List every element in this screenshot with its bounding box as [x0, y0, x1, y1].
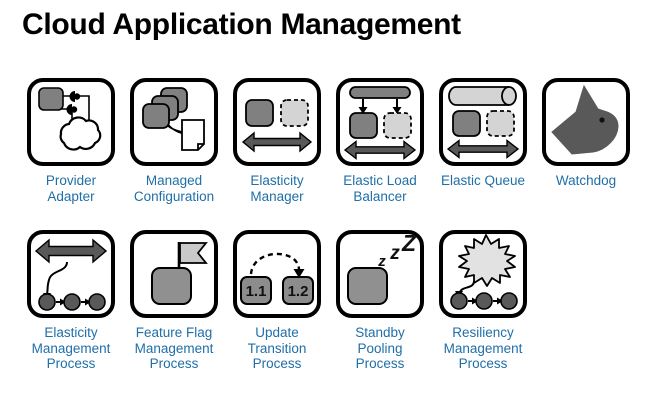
- label-resiliency-management-process: Resiliency Management Process: [444, 325, 523, 372]
- label-elasticity-management-process: Elasticity Management Process: [32, 325, 111, 372]
- update-version-from-text: 1.1: [246, 283, 267, 300]
- cell-elasticity-management-process[interactable]: Elasticity Management Process: [27, 230, 115, 372]
- tile-provider-adapter[interactable]: [27, 78, 115, 166]
- elastic-queue-icon: [443, 82, 523, 162]
- standby-pooling-process-icon: z z Z: [340, 234, 420, 314]
- cell-elastic-load-balancer[interactable]: Elastic Load Balancer: [336, 78, 424, 204]
- feature-flag-management-process-icon: [134, 234, 214, 314]
- cell-resiliency-management-process[interactable]: Resiliency Management Process: [439, 230, 527, 372]
- label-managed-configuration: Managed Configuration: [134, 173, 214, 204]
- cell-elastic-queue[interactable]: Elastic Queue: [439, 78, 527, 204]
- label-standby-pooling-process: Standby Pooling Process: [355, 325, 405, 372]
- label-feature-flag-management-process: Feature Flag Management Process: [135, 325, 214, 372]
- tile-elasticity-management-process[interactable]: [27, 230, 115, 318]
- tile-resiliency-management-process[interactable]: [439, 230, 527, 318]
- cell-watchdog[interactable]: Watchdog: [542, 78, 630, 204]
- cell-feature-flag-management-process[interactable]: Feature Flag Management Process: [130, 230, 218, 372]
- label-watchdog: Watchdog: [556, 173, 616, 189]
- elasticity-manager-icon: [237, 82, 317, 162]
- processes-row: Elasticity Management Process Feature Fl…: [0, 230, 542, 372]
- elasticity-management-process-icon: [31, 234, 111, 314]
- provider-adapter-icon: [31, 82, 111, 162]
- tile-elastic-load-balancer[interactable]: [336, 78, 424, 166]
- cell-provider-adapter[interactable]: Provider Adapter: [27, 78, 115, 204]
- resiliency-management-process-icon: [443, 234, 523, 314]
- managed-configuration-icon: [134, 82, 214, 162]
- patterns-row: Provider Adapter Managed Configuration E…: [0, 78, 645, 204]
- update-transition-process-icon: 1.1 1.2: [237, 234, 317, 314]
- tile-elastic-queue[interactable]: [439, 78, 527, 166]
- tile-managed-configuration[interactable]: [130, 78, 218, 166]
- update-version-to-text: 1.2: [288, 283, 309, 300]
- label-elasticity-manager: Elasticity Manager: [250, 173, 303, 204]
- cell-managed-configuration[interactable]: Managed Configuration: [130, 78, 218, 204]
- elastic-load-balancer-icon: [340, 82, 420, 162]
- label-elastic-load-balancer: Elastic Load Balancer: [343, 173, 417, 204]
- tile-update-transition-process[interactable]: 1.1 1.2: [233, 230, 321, 318]
- label-update-transition-process: Update Transition Process: [248, 325, 307, 372]
- cell-elasticity-manager[interactable]: Elasticity Manager: [233, 78, 321, 204]
- tile-watchdog[interactable]: [542, 78, 630, 166]
- cell-update-transition-process[interactable]: 1.1 1.2 Update Transition Process: [233, 230, 321, 372]
- label-provider-adapter: Provider Adapter: [46, 173, 96, 204]
- page-title: Cloud Application Management: [22, 8, 461, 42]
- tile-elasticity-manager[interactable]: [233, 78, 321, 166]
- cell-standby-pooling-process[interactable]: z z Z Standby Pooling Process: [336, 230, 424, 372]
- label-elastic-queue: Elastic Queue: [441, 173, 525, 189]
- tile-feature-flag-management-process[interactable]: [130, 230, 218, 318]
- tile-standby-pooling-process[interactable]: z z Z: [336, 230, 424, 318]
- sleep-z-medium-icon: z: [389, 243, 400, 264]
- watchdog-icon: [546, 82, 626, 162]
- sleep-z-large-icon: Z: [401, 234, 417, 256]
